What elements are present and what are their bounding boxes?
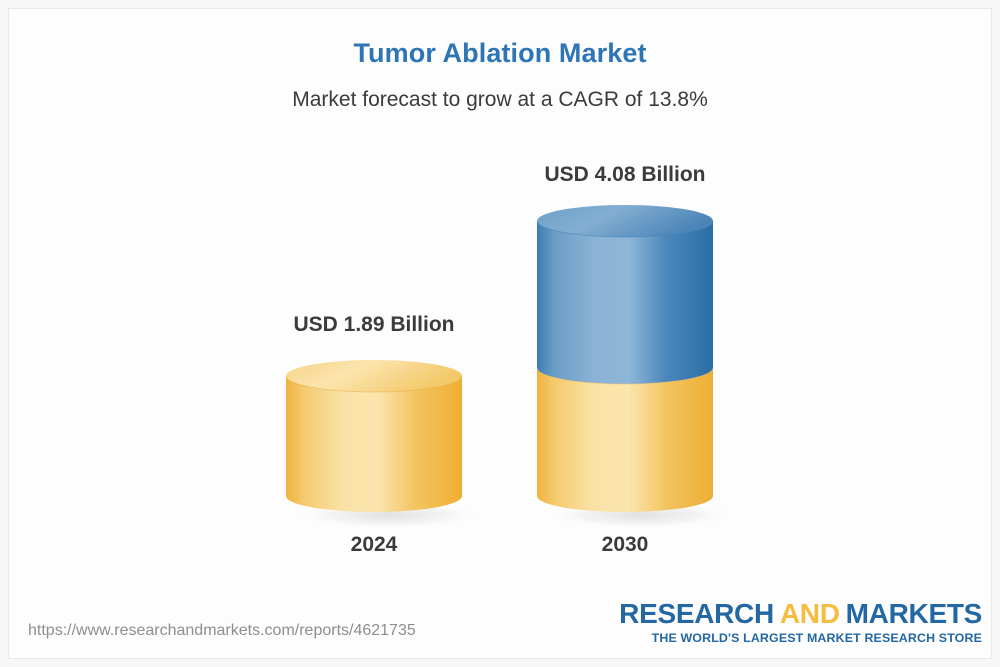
bar-value-label-2024: USD 1.89 Billion xyxy=(274,313,474,337)
logo-wordmark: RESEARCHANDMARKETS xyxy=(619,600,982,628)
logo-tagline: THE WORLD'S LARGEST MARKET RESEARCH STOR… xyxy=(619,632,982,644)
chart-canvas: Tumor Ablation Market Market forecast to… xyxy=(0,0,1000,667)
cylinder-2024-svg xyxy=(286,344,482,544)
category-label-2024: 2024 xyxy=(274,533,474,557)
category-label-2030: 2030 xyxy=(525,533,725,557)
cylinder-body-blue-2030 xyxy=(537,221,713,384)
logo-word-research: RESEARCH xyxy=(619,598,774,629)
cylinder-body-yellow-2030 xyxy=(537,368,713,512)
logo-word-markets: MARKETS xyxy=(846,598,982,629)
report-url[interactable]: https://www.researchandmarkets.com/repor… xyxy=(28,622,416,640)
plot-area: USD 1.89 Billion xyxy=(0,0,1000,600)
bar-cylinder-2024[interactable] xyxy=(286,344,462,528)
cylinder-2030-svg xyxy=(537,189,733,544)
research-and-markets-logo[interactable]: RESEARCHANDMARKETS THE WORLD'S LARGEST M… xyxy=(619,600,982,644)
logo-word-and: AND xyxy=(780,598,840,629)
cylinder-body-2024 xyxy=(286,376,462,512)
bar-cylinder-2030[interactable] xyxy=(537,189,713,528)
bar-value-label-2030: USD 4.08 Billion xyxy=(525,163,725,187)
